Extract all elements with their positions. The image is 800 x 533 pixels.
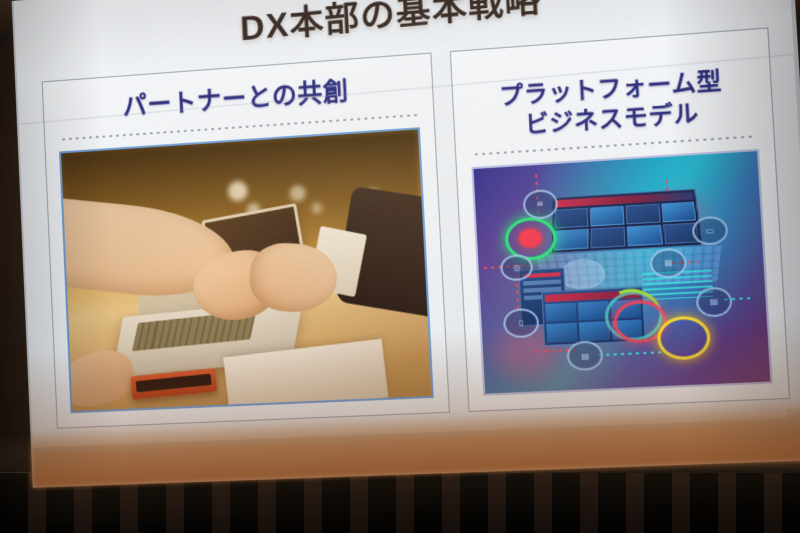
panel-row: パートナーとの共創 (42, 27, 790, 428)
platform-illustration-art: ≋ ◎ ▯ ▤ ▤ ▭ ▤ (473, 151, 770, 393)
panel-platform-business-model: プラットフォーム型 ビジネスモデル (450, 27, 790, 412)
dashboard-tile (627, 225, 663, 247)
laptop-dashboard-screen (551, 189, 704, 254)
platform-tech-illustration: ≋ ◎ ▯ ▤ ▤ ▭ ▤ (471, 149, 772, 396)
chart-row (523, 279, 562, 285)
dashboard-tile (661, 202, 697, 223)
panel-heading-right: プラットフォーム型 ビジネスモデル (462, 40, 763, 147)
dashboard-tile (545, 302, 576, 322)
dashboard-tile (590, 206, 624, 227)
warm-color-grade (61, 129, 432, 411)
handshake-photo (59, 127, 434, 413)
projection-screen-wrapper: DX本部の基本戦略 パートナーとの共創 (0, 0, 800, 533)
projection-screen: DX本部の基本戦略 パートナーとの共創 (12, 0, 800, 488)
dashboard-tile (591, 227, 626, 249)
dashboard-tile (546, 323, 577, 343)
dashboard-tile (579, 321, 610, 341)
panel-partner-co-creation: パートナーとの共創 (42, 52, 450, 428)
dashboard-tile (625, 204, 660, 225)
dashboard-tile (554, 229, 588, 251)
dashboard-tile (555, 208, 589, 229)
handshake-photo-art (61, 129, 432, 411)
presentation-slide: DX本部の基本戦略 パートナーとの共創 (13, 0, 800, 448)
